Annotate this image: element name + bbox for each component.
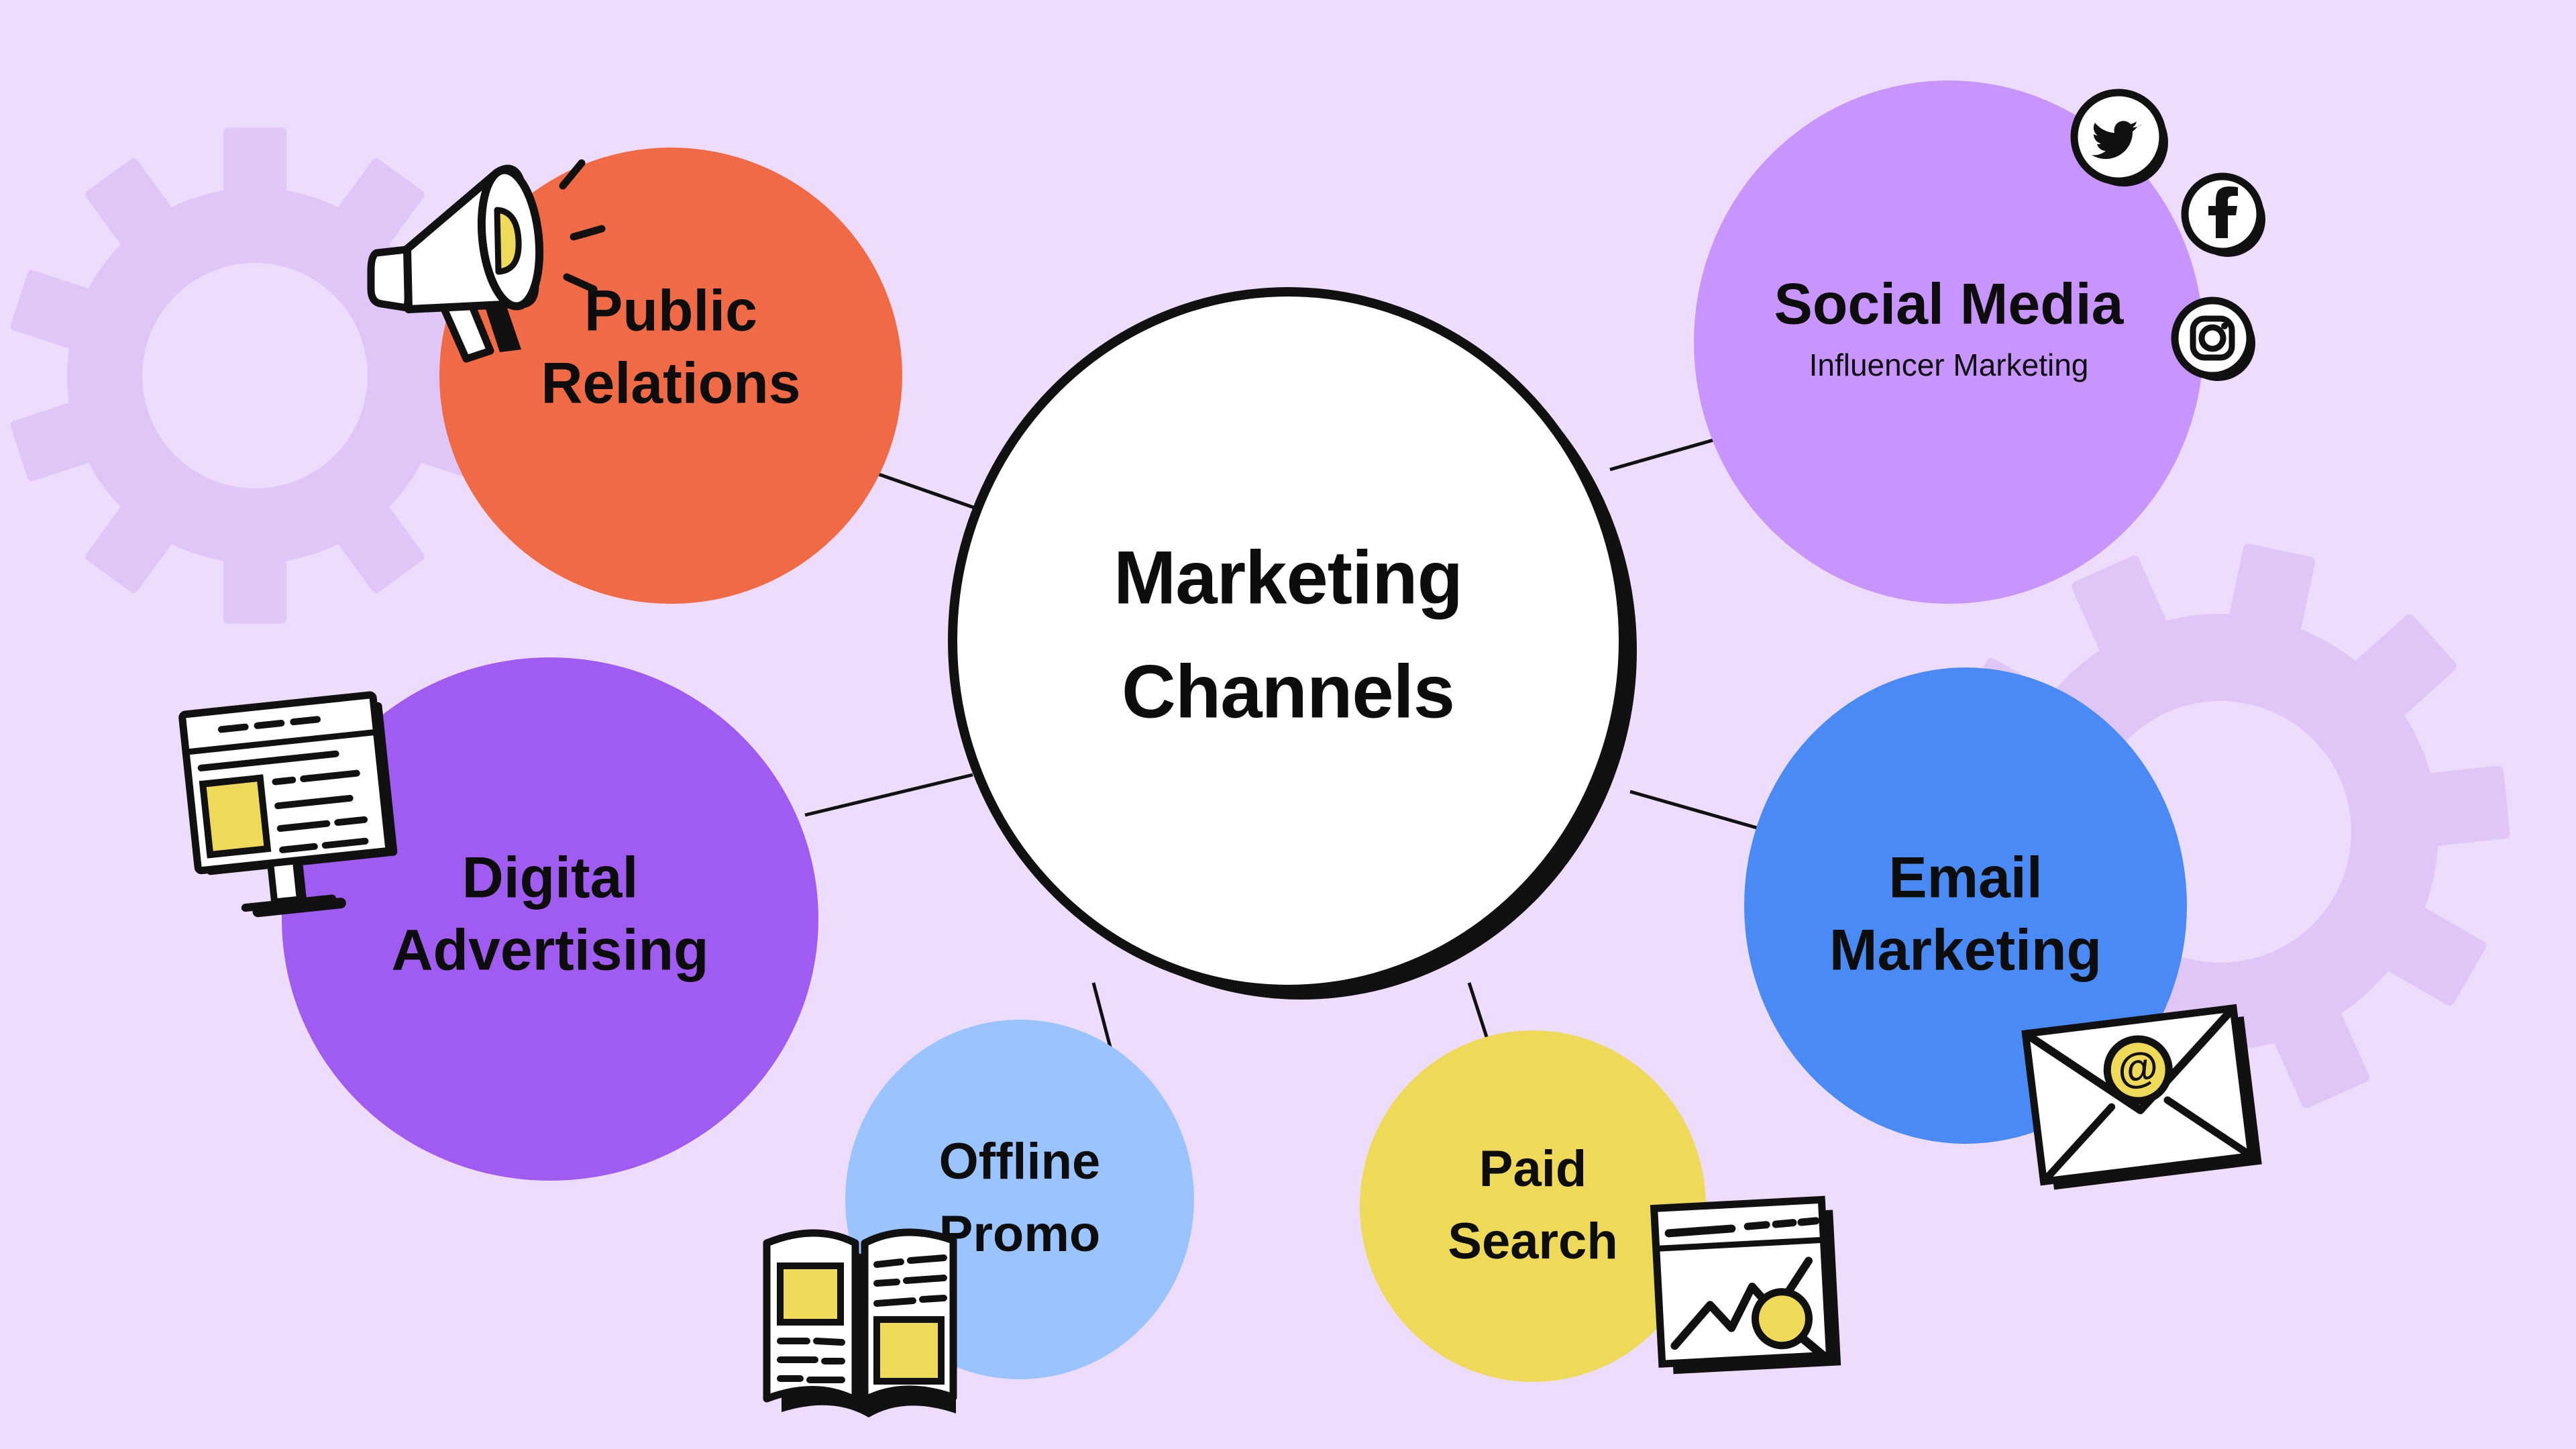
- twitter-icon[interactable]: [2074, 93, 2168, 186]
- facebook-icon[interactable]: [2185, 176, 2265, 257]
- megaphone-icon: [371, 163, 602, 359]
- envelope-at-icon: @: [2025, 1007, 2261, 1191]
- open-book-icon: [767, 1232, 956, 1417]
- icons-layer: @: [0, 0, 2576, 1449]
- social-icons-cluster: [2074, 93, 2265, 381]
- instagram-icon[interactable]: [2175, 301, 2255, 381]
- mindmap-canvas: Public Relations Social Media Influencer…: [0, 0, 2576, 1449]
- svg-text:@: @: [2115, 1042, 2161, 1093]
- search-analytics-icon: [1654, 1199, 1841, 1375]
- monitor-ad-icon: [182, 694, 402, 922]
